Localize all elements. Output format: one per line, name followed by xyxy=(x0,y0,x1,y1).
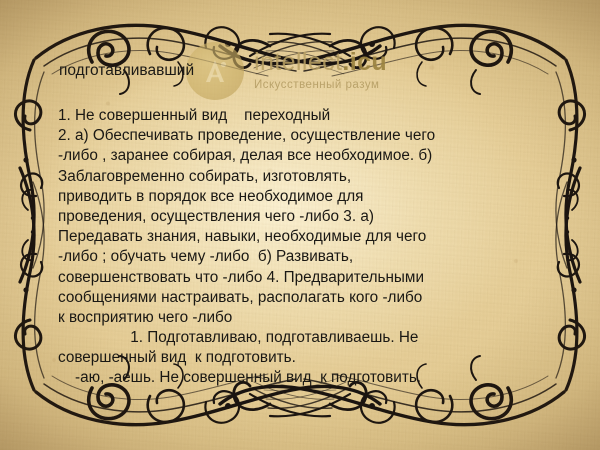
entry-content: подготавливавший 1. Не совершенный вид п… xyxy=(0,0,600,450)
definition-line: Заблаговременно собирать, изготовлять, xyxy=(58,167,558,187)
conjugation-block: 1. Подготавливаю, подготавливаешь. Не со… xyxy=(58,328,568,389)
conjugation-line: совершенный вид к подготовить. xyxy=(58,348,568,368)
definition-line: сообщениями настраивать, располагать ког… xyxy=(58,288,558,308)
definition-line: приводить в порядок все необходимое для xyxy=(58,187,558,207)
parchment-page: intellect.icu Искусственный разум подгот… xyxy=(0,0,600,450)
definition-line: 2. а) Обеспечивать проведение, осуществл… xyxy=(58,126,558,146)
definition-line: 1. Не совершенный вид переходный xyxy=(58,106,558,126)
definition-line: к восприятию чего -либо xyxy=(58,308,558,328)
conjugation-line: -аю, -аешь. Не совершенный вид к подгото… xyxy=(58,368,568,388)
definition-block: 1. Не совершенный вид переходный 2. а) О… xyxy=(58,106,558,328)
page-title: подготавливавший xyxy=(59,62,194,80)
definition-line: -либо ; обучать чему -либо б) Развивать, xyxy=(58,247,558,267)
definition-line: -либо , заранее собирая, делая все необх… xyxy=(58,146,558,166)
definition-line: совершенствовать что -либо 4. Предварите… xyxy=(58,268,558,288)
definition-line: проведения, осуществления чего -либо 3. … xyxy=(58,207,558,227)
definition-line: Передавать знания, навыки, необходимые д… xyxy=(58,227,558,247)
conjugation-line: 1. Подготавливаю, подготавливаешь. Не xyxy=(58,328,568,348)
